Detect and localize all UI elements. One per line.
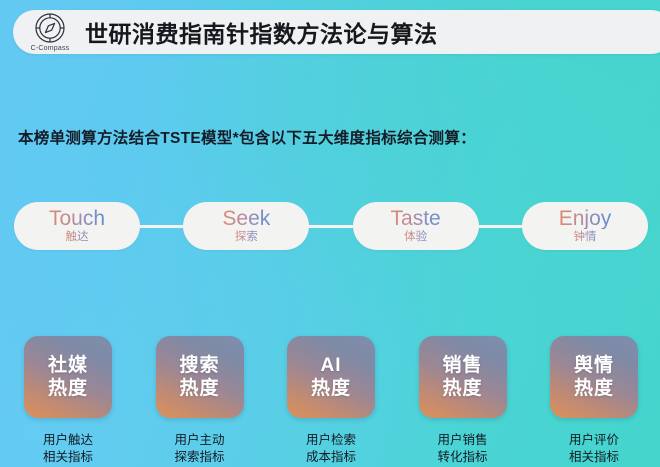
metric-caption-line2: 相关指标 (43, 449, 93, 466)
metric-card: 社媒 热度 (24, 336, 112, 418)
metric-title-line2: 热度 (179, 377, 219, 400)
metric-caption-line1: 用户评价 (569, 432, 619, 449)
metric-caption-line2: 转化指标 (437, 449, 487, 466)
metric-caption: 用户主动 探索指标 (174, 432, 224, 466)
metric-caption-line1: 用户销售 (437, 432, 487, 449)
metric-caption-line2: 成本指标 (306, 449, 356, 466)
metric-title-line2: 热度 (574, 377, 614, 400)
metric-card-row: 社媒 热度 用户触达 相关指标 搜索 热度 用户主动 探索指标 AI 热度 (14, 336, 648, 466)
metric-caption-line2: 探索指标 (174, 449, 224, 466)
metric-caption: 用户评价 相关指标 (569, 432, 619, 466)
brand-name-label: C-Compass (31, 45, 70, 52)
brand-logo: C-Compass (25, 12, 75, 52)
stage-label-cn: 触达 (66, 230, 89, 244)
metric-caption-line1: 用户主动 (174, 432, 224, 449)
stage-label-en: Touch (49, 208, 105, 229)
metric-public-opinion: 舆情 热度 用户评价 相关指标 (540, 336, 648, 466)
metric-title-line1: AI (321, 354, 342, 377)
metric-title-line1: 舆情 (574, 354, 614, 377)
poster-canvas: C-Compass 世研消费指南针指数方法论与算法 本榜单测算方法结合TSTE模… (0, 0, 660, 467)
stage-connector-line (479, 225, 522, 228)
metric-card: 销售 热度 (419, 336, 507, 418)
stage-pill-seek: Seek 探索 (183, 202, 309, 250)
subtitle-text: 本榜单测算方法结合TSTE模型*包含以下五大维度指标综合测算： (18, 126, 660, 148)
metric-caption-line1: 用户检索 (306, 432, 356, 449)
stage-label-cn: 探索 (235, 230, 258, 244)
metric-card: 舆情 热度 (550, 336, 638, 418)
metric-title-line1: 社媒 (48, 354, 88, 377)
metric-ai: AI 热度 用户检索 成本指标 (277, 336, 385, 466)
stage-pill-enjoy: Enjoy 钟情 (522, 202, 648, 250)
metric-card: 搜索 热度 (156, 336, 244, 418)
metric-card: AI 热度 (287, 336, 375, 418)
metric-title-line2: 热度 (311, 377, 351, 400)
stage-connector-line (309, 225, 352, 228)
page-title: 世研消费指南针指数方法论与算法 (85, 15, 438, 49)
metric-title-line1: 销售 (442, 354, 482, 377)
metric-title-line2: 热度 (48, 377, 88, 400)
metric-caption-line2: 相关指标 (569, 449, 619, 466)
metric-search: 搜索 热度 用户主动 探索指标 (146, 336, 254, 466)
stage-label-cn: 钟情 (573, 230, 596, 244)
stage-label-en: Enjoy (559, 208, 612, 229)
stage-label-en: Seek (222, 208, 270, 229)
metric-caption: 用户销售 转化指标 (437, 432, 487, 466)
metric-sales: 销售 热度 用户销售 转化指标 (409, 336, 517, 466)
metric-caption-line1: 用户触达 (43, 432, 93, 449)
metric-caption: 用户检索 成本指标 (306, 432, 356, 466)
stage-pill-touch: Touch 触达 (14, 202, 140, 250)
compass-icon (34, 12, 66, 44)
metric-title-line1: 搜索 (179, 354, 219, 377)
metric-caption: 用户触达 相关指标 (43, 432, 93, 466)
header-title-pill: C-Compass 世研消费指南针指数方法论与算法 (13, 10, 660, 54)
stage-connector-line (140, 225, 183, 228)
metric-social-media: 社媒 热度 用户触达 相关指标 (14, 336, 122, 466)
stage-flow: Touch 触达 Seek 探索 Taste 体验 Enjoy 钟情 (14, 202, 648, 250)
metric-title-line2: 热度 (442, 377, 482, 400)
stage-label-en: Taste (391, 208, 441, 229)
stage-pill-taste: Taste 体验 (353, 202, 479, 250)
stage-label-cn: 体验 (404, 230, 427, 244)
